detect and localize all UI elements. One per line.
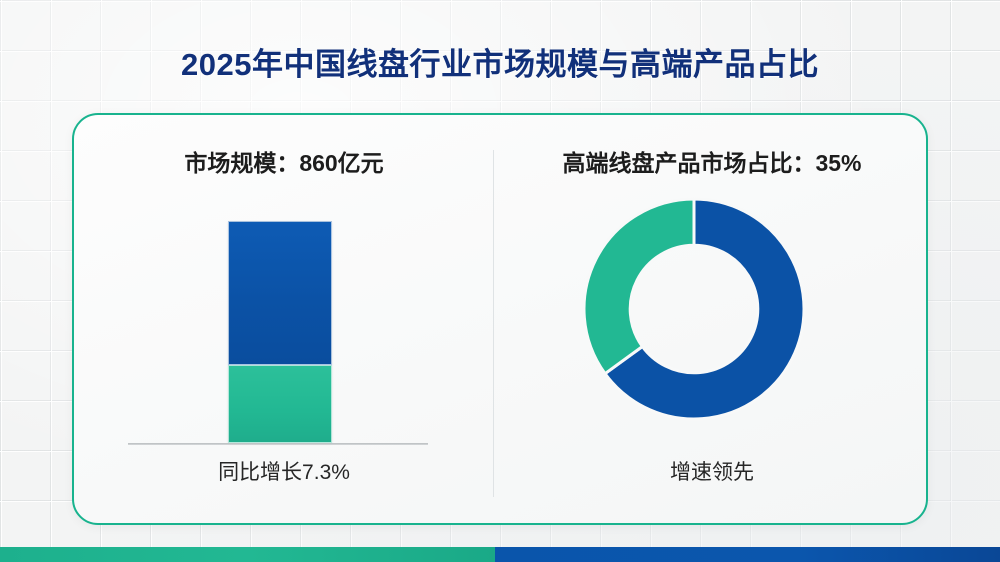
market-size-heading: 市场规模：860亿元 bbox=[74, 144, 494, 178]
donut-chart bbox=[582, 197, 806, 421]
content-card: 市场规模：860亿元 同比增长7.3% 高端线盘产品市场占比：35% bbox=[72, 113, 928, 525]
bar-segment-other bbox=[228, 221, 332, 365]
premium-share-caption: 增速领先 bbox=[494, 456, 930, 486]
donut-svg bbox=[582, 197, 806, 421]
panel-market-size: 市场规模：860亿元 同比增长7.3% bbox=[74, 115, 494, 523]
market-size-caption: 同比增长7.3% bbox=[74, 456, 494, 486]
donut-slice-premium bbox=[584, 199, 694, 374]
bar-segment-premium bbox=[228, 365, 332, 443]
panel-premium-share: 高端线盘产品市场占比：35% 增速领先 bbox=[494, 115, 930, 523]
accent-bar-green bbox=[0, 547, 495, 562]
premium-share-heading: 高端线盘产品市场占比：35% bbox=[494, 144, 930, 178]
bar-baseline-axis bbox=[128, 443, 428, 445]
slide-canvas: 2025年中国线盘行业市场规模与高端产品占比 市场规模：860亿元 同比增长7.… bbox=[0, 0, 1000, 562]
accent-bar-blue bbox=[495, 547, 1000, 562]
bottom-accent-bar bbox=[0, 547, 1000, 562]
page-title: 2025年中国线盘行业市场规模与高端产品占比 bbox=[0, 39, 1000, 84]
bar-stack bbox=[228, 221, 332, 443]
bar-chart bbox=[128, 210, 428, 445]
